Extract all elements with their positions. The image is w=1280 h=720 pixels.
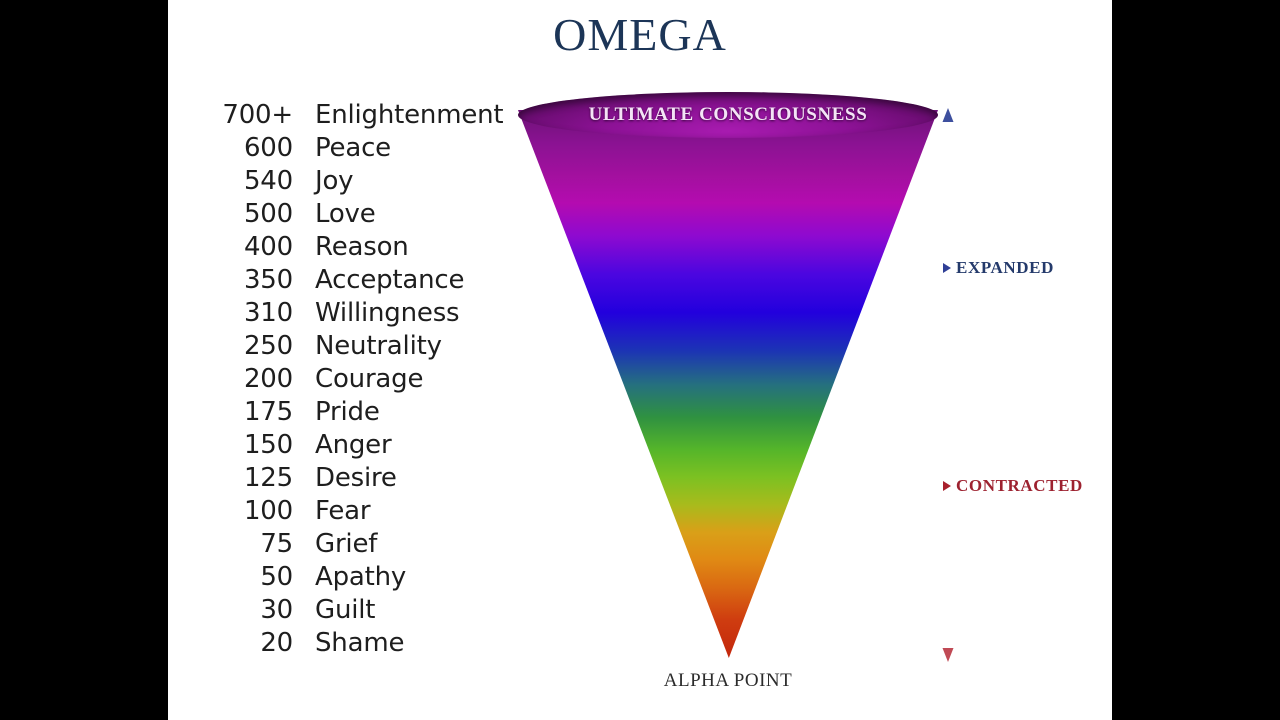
scale-row-value: 250 — [203, 331, 293, 361]
letterbox-bar-left — [0, 0, 168, 720]
scale-row-value: 100 — [203, 496, 293, 526]
scale-row-label: Apathy — [315, 562, 406, 592]
scale-row-label: Reason — [315, 232, 409, 262]
scale-row: 20Shame — [203, 628, 533, 661]
scale-row: 150Anger — [203, 430, 533, 463]
scale-row-label: Peace — [315, 133, 391, 163]
scale-row: 175Pride — [203, 397, 533, 430]
scale-row: 600Peace — [203, 133, 533, 166]
arrow-down-icon — [943, 648, 954, 662]
scale-row: 250Neutrality — [203, 331, 533, 364]
arrow-right-icon-contracted — [943, 481, 951, 491]
scale-row-value: 50 — [203, 562, 293, 592]
scale-row-value: 350 — [203, 265, 293, 295]
scale-row: 75Grief — [203, 529, 533, 562]
scale-row-value: 125 — [203, 463, 293, 493]
page-title: OMEGA — [168, 12, 1112, 58]
cone-top-label: ULTIMATE CONSCIOUSNESS — [518, 104, 938, 126]
cone-bottom-label: ALPHA POINT — [518, 670, 938, 692]
scale-row-value: 400 — [203, 232, 293, 262]
scale-row: 400Reason — [203, 232, 533, 265]
scale-row-label: Courage — [315, 364, 423, 394]
scale-row-value: 30 — [203, 595, 293, 625]
scale-row: 310Willingness — [203, 298, 533, 331]
marker-expanded: EXPANDED — [943, 258, 1054, 278]
arrow-right-icon-expanded — [943, 263, 951, 273]
scale-row: 50Apathy — [203, 562, 533, 595]
scale-row: 30Guilt — [203, 595, 533, 628]
diagram-panel: OMEGA 700+Enlightenment600Peace540Joy500… — [168, 0, 1112, 720]
scale-row-value: 175 — [203, 397, 293, 427]
arrow-up-icon — [943, 108, 954, 122]
scale-row-value: 700+ — [203, 100, 293, 130]
scale-row: 700+Enlightenment — [203, 100, 533, 133]
screenshot-stage: OMEGA 700+Enlightenment600Peace540Joy500… — [0, 0, 1280, 720]
scale-row: 500Love — [203, 199, 533, 232]
scale-row: 100Fear — [203, 496, 533, 529]
marker-contracted: CONTRACTED — [943, 476, 1083, 496]
scale-row-value: 600 — [203, 133, 293, 163]
scale-row-value: 500 — [203, 199, 293, 229]
scale-row-label: Joy — [315, 166, 353, 196]
inverted-cone-figure: ULTIMATE CONSCIOUSNESS ALPHA POINT — [508, 92, 938, 672]
cone-gradient-body — [518, 110, 938, 658]
scale-row: 350Acceptance — [203, 265, 533, 298]
scale-row-value: 150 — [203, 430, 293, 460]
scale-row-label: Grief — [315, 529, 377, 559]
consciousness-scale-list: 700+Enlightenment600Peace540Joy500Love40… — [203, 100, 533, 661]
scale-row-label: Neutrality — [315, 331, 442, 361]
scale-row-label: Desire — [315, 463, 397, 493]
scale-row: 200Courage — [203, 364, 533, 397]
marker-contracted-label: CONTRACTED — [956, 476, 1083, 496]
scale-row: 540Joy — [203, 166, 533, 199]
scale-row-label: Shame — [315, 628, 404, 658]
scale-row-value: 75 — [203, 529, 293, 559]
scale-row-value: 310 — [203, 298, 293, 328]
scale-row-label: Enlightenment — [315, 100, 503, 130]
scale-row-label: Guilt — [315, 595, 375, 625]
scale-row-label: Acceptance — [315, 265, 464, 295]
letterbox-bar-right — [1112, 0, 1280, 720]
scale-row-label: Pride — [315, 397, 380, 427]
expansion-axis — [928, 100, 968, 670]
scale-row-value: 20 — [203, 628, 293, 658]
scale-row-label: Fear — [315, 496, 370, 526]
scale-row-label: Willingness — [315, 298, 459, 328]
scale-row: 125Desire — [203, 463, 533, 496]
scale-row-label: Anger — [315, 430, 391, 460]
marker-expanded-label: EXPANDED — [956, 258, 1054, 278]
scale-row-label: Love — [315, 199, 376, 229]
scale-row-value: 200 — [203, 364, 293, 394]
scale-row-value: 540 — [203, 166, 293, 196]
